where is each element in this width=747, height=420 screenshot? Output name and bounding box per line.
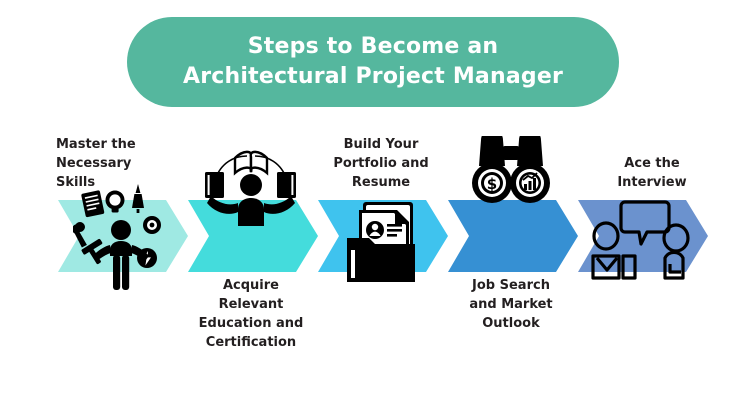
step-1[interactable]: Master the Necessary Skills — [46, 118, 196, 368]
step-4-label-line-3: Outlook — [436, 314, 586, 333]
step-5-label-line-1: Ace the — [588, 154, 716, 173]
step-3-label-line-3: Resume — [306, 173, 456, 192]
steps-container: Master the Necessary Skills — [0, 118, 747, 368]
step-5-label-line-2: Interview — [588, 173, 716, 192]
step-1-label-line-1: Master the — [56, 135, 196, 154]
step-3-label: Build Your Portfolio and Resume — [306, 135, 456, 192]
step-2-label-line-2: Relevant — [176, 295, 326, 314]
step-2-label: Acquire Relevant Education and Certifica… — [176, 276, 326, 352]
step-3-label-line-2: Portfolio and — [306, 154, 456, 173]
binoculars-icon: $ — [436, 136, 586, 212]
step-1-label-line-2: Necessary — [56, 154, 196, 173]
step-4-label-line-1: Job Search — [436, 276, 586, 295]
resume-folder-icon — [306, 196, 456, 288]
svg-text:$: $ — [487, 175, 497, 193]
step-4-label-line-2: and Market — [436, 295, 586, 314]
title-line-2: Architectural Project Manager — [183, 62, 563, 92]
step-2-label-line-3: Education and — [176, 314, 326, 333]
interview-conversation-icon — [566, 196, 716, 280]
title-banner: Steps to Become an Architectural Project… — [127, 17, 619, 107]
step-3-label-line-1: Build Your — [306, 135, 456, 154]
juggling-books-icon — [176, 148, 326, 226]
step-4-label: Job Search and Market Outlook — [436, 276, 586, 333]
skills-person-icon — [46, 178, 196, 290]
step-2-label-line-4: Certification — [176, 333, 326, 352]
step-2[interactable]: Acquire Relevant Education and Certifica… — [176, 118, 326, 368]
step-3[interactable]: Build Your Portfolio and Resume — [306, 118, 456, 368]
title-line-1: Steps to Become an — [248, 32, 499, 62]
step-4[interactable]: Job Search and Market Outlook — [436, 118, 586, 368]
step-5-label: Ace the Interview — [566, 154, 716, 192]
step-2-label-line-1: Acquire — [176, 276, 326, 295]
step-5[interactable]: Ace the Interview — [566, 118, 716, 368]
